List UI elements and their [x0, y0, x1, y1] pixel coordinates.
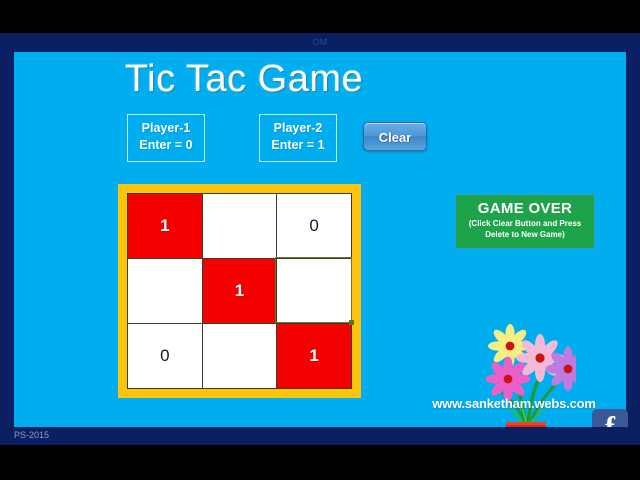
- board-cell-1[interactable]: [203, 194, 277, 258]
- player-2-name: Player-2: [266, 120, 330, 137]
- board-cell-4[interactable]: 1: [203, 259, 277, 323]
- clear-button[interactable]: Clear: [363, 122, 427, 151]
- game-over-title: GAME OVER: [456, 200, 594, 217]
- player-1-legend: Player-1 Enter = 0: [127, 114, 205, 162]
- player-1-key: Enter = 0: [134, 137, 198, 154]
- app-canvas: Tic Tac Game Player-1 Enter = 0 Player-2…: [14, 52, 626, 427]
- flower-pot-image: [476, 324, 576, 442]
- window-title-bar: OM: [0, 33, 640, 52]
- window-title-text: OM: [312, 37, 328, 47]
- board-cell-6[interactable]: 0: [128, 324, 202, 388]
- website-url[interactable]: www.sanketham.webs.com: [414, 396, 614, 411]
- page-title: Tic Tac Game: [14, 58, 474, 101]
- board-cell-3[interactable]: [128, 259, 202, 323]
- board-cell-7[interactable]: [203, 324, 277, 388]
- player-1-name: Player-1: [134, 120, 198, 137]
- game-over-subtitle: (Click Clear Button and Press Delete to …: [456, 217, 594, 240]
- player-2-legend: Player-2 Enter = 1: [259, 114, 337, 162]
- board-cell-5[interactable]: [277, 259, 351, 323]
- game-board-frame: 1 0 1 0 1: [118, 184, 361, 398]
- game-over-panel: GAME OVER (Click Clear Button and Press …: [455, 194, 595, 249]
- board-cell-0[interactable]: 1: [128, 194, 202, 258]
- status-bar-text: PS-2015: [14, 430, 49, 440]
- board-cell-8[interactable]: 1: [277, 324, 351, 388]
- game-board-grid[interactable]: 1 0 1 0 1: [127, 193, 352, 389]
- screen: OM Tic Tac Game Player-1 Enter = 0 Playe…: [0, 0, 640, 480]
- player-2-key: Enter = 1: [266, 137, 330, 154]
- status-bar: PS-2015: [0, 427, 640, 445]
- board-cell-2[interactable]: 0: [277, 194, 351, 258]
